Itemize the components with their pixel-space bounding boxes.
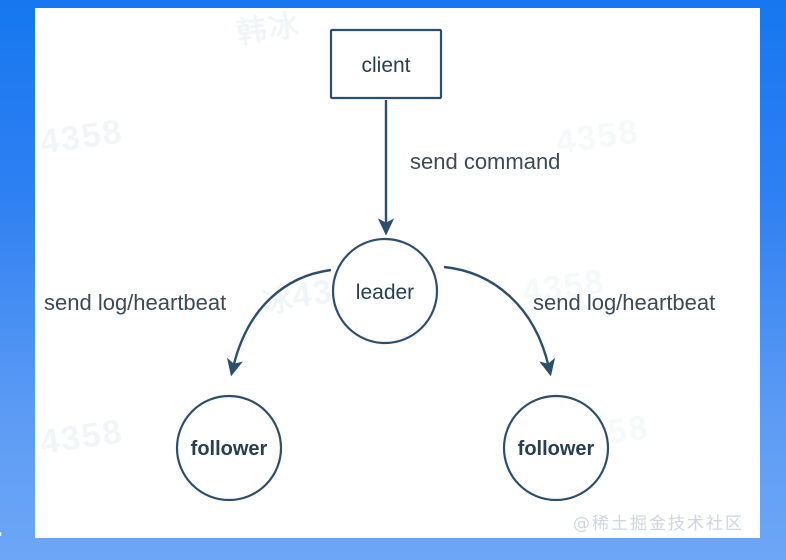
node-follower-right[interactable]: follower [504, 396, 608, 500]
edge-client-to-leader: send command [386, 100, 560, 227]
send-log-heartbeat-left-label: send log/heartbeat [44, 290, 226, 315]
diagram-panel: 韩冰 4358 4358 冰 4358 4358 4358 4358 clien… [35, 8, 760, 538]
edge-leader-to-follower-right: send log/heartbeat [444, 267, 715, 368]
follower-right-label: follower [518, 438, 595, 460]
cutoff-glyph-2: r [0, 516, 24, 560]
follower-left-label: follower [191, 438, 268, 460]
cutoff-left-text: ] r [0, 286, 24, 560]
flow-diagram: client send command send log/heartbeat s… [35, 8, 760, 538]
leader-label: leader [356, 281, 414, 304]
cutoff-glyph-1: ] [0, 378, 24, 424]
edge-leader-to-follower-left: send log/heartbeat [44, 270, 331, 368]
leader-to-follower-left-curve [233, 270, 331, 368]
client-label: client [361, 54, 410, 77]
node-leader[interactable]: leader [333, 239, 437, 343]
send-log-heartbeat-right-label: send log/heartbeat [533, 290, 715, 315]
screenshot-canvas: ] r 韩冰 4358 4358 冰 4358 4358 4358 4358 c… [0, 0, 786, 560]
credit-watermark: @稀土掘金技术社区 [573, 509, 744, 534]
node-follower-left[interactable]: follower [177, 396, 281, 500]
send-command-label: send command [410, 149, 560, 174]
node-client[interactable]: client [331, 30, 441, 98]
leader-to-follower-right-curve [444, 267, 549, 368]
